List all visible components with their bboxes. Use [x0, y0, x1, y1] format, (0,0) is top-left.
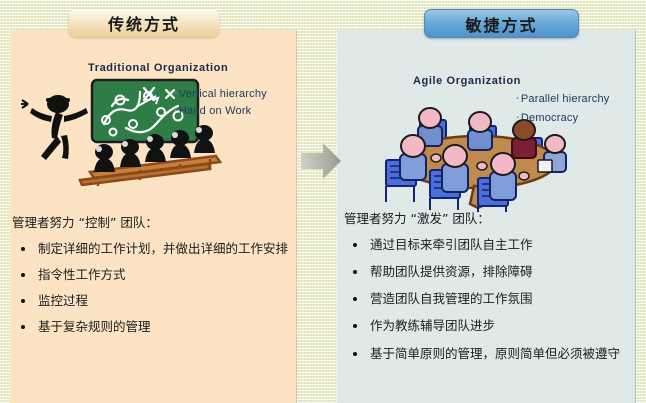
traditional-banner: 传统方式 — [69, 9, 219, 37]
list-item: 通过目标来牵引团队自主工作 — [344, 236, 634, 254]
traditional-text-block: 管理者努力 “控制” 团队： 制定详细的工作计划，并做出详细的工作安排 指令性工… — [12, 212, 292, 345]
agile-lead: 管理者努力 “激发” 团队： — [344, 208, 634, 227]
agile-text-block: 管理者努力 “激发” 团队： 通过目标来牵引团队自主工作 帮助团队提供资源，排除… — [344, 208, 634, 372]
agile-feature-1-label: Parallel hierarchy — [521, 93, 610, 105]
traditional-organization-title: Traditional Organization — [88, 62, 228, 74]
agile-banner-label: 敏捷方式 — [465, 12, 537, 36]
traditional-feature-1-label: Vertical hierarchy — [179, 88, 267, 100]
bullet-dash-icon: · — [174, 105, 178, 117]
agile-feature-2: ·Democracy — [516, 112, 578, 124]
list-item: 营造团队自我管理的工作氛围 — [344, 290, 634, 308]
bullet-dash-icon: · — [516, 93, 520, 105]
list-item: 制定详细的工作计划，并做出详细的工作安排 — [12, 240, 292, 258]
right-arrow-icon — [299, 139, 343, 183]
traditional-feature-2-label: Hand on Work — [179, 105, 252, 117]
bullet-dash-icon: · — [516, 112, 520, 124]
traditional-bullet-list: 制定详细的工作计划，并做出详细的工作安排 指令性工作方式 监控过程 基于复杂规则… — [12, 240, 292, 337]
bullet-dash-icon: · — [174, 88, 178, 100]
slide-background: 传统方式 敏捷方式 Traditional Organization — [0, 0, 646, 403]
list-item: 作为教练辅导团队进步 — [344, 317, 634, 335]
traditional-feature-1: ·Vertical hierarchy — [174, 88, 267, 100]
traditional-lead: 管理者努力 “控制” 团队： — [12, 212, 292, 231]
agile-organization-title: Agile Organization — [413, 75, 521, 87]
agile-feature-2-label: Democracy — [521, 112, 578, 124]
list-item: 帮助团队提供资源，排除障碍 — [344, 263, 634, 281]
agile-feature-1: ·Parallel hierarchy — [516, 93, 609, 105]
list-item: 基于复杂规则的管理 — [12, 318, 292, 336]
list-item: 基于简单原则的管理，原则简单但必须被遵守 — [344, 345, 634, 363]
traditional-banner-label: 传统方式 — [108, 11, 180, 35]
traditional-feature-2: ·Hand on Work — [174, 105, 251, 117]
list-item: 监控过程 — [12, 292, 292, 310]
list-item: 指令性工作方式 — [12, 266, 292, 284]
agile-banner: 敏捷方式 — [424, 9, 579, 38]
agile-bullet-list: 通过目标来牵引团队自主工作 帮助团队提供资源，排除障碍 营造团队自我管理的工作氛… — [344, 236, 634, 363]
